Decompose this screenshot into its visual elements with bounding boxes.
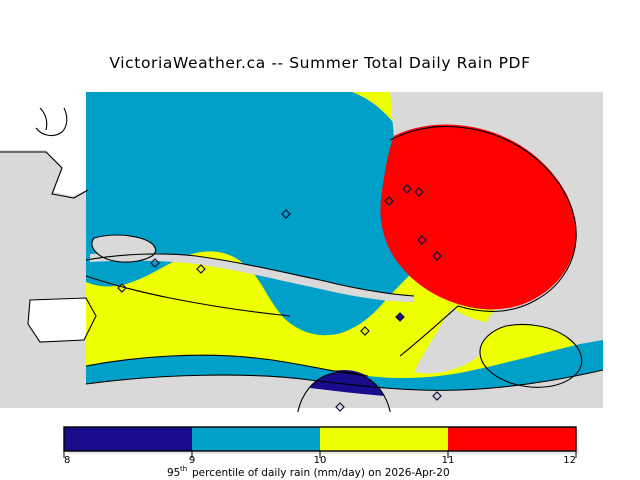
map-container[interactable] bbox=[0, 40, 640, 412]
colorbar-band-8-9[interactable] bbox=[64, 427, 192, 451]
colorbar-container: 8 9 10 11 12 95 th percentile of daily r… bbox=[0, 418, 640, 480]
weather-map-page: VictoriaWeather.ca -- Summer Total Daily… bbox=[0, 0, 640, 480]
colorbar-tick-label-10: 10 bbox=[314, 455, 327, 466]
page-title: VictoriaWeather.ca -- Summer Total Daily… bbox=[0, 54, 640, 72]
colorbar-caption-superscript: th bbox=[180, 465, 187, 473]
colorbar-tick-label-12: 12 bbox=[563, 455, 576, 466]
colorbar-band-9-10[interactable] bbox=[192, 427, 320, 451]
colorbar-caption-prefix: 95 bbox=[167, 467, 180, 479]
colorbar-caption-text: percentile of daily rain (mm/day) on 202… bbox=[192, 467, 450, 479]
colorbar-band-10-11[interactable] bbox=[320, 427, 448, 451]
colorbar-canvas: 8 9 10 11 12 95 th percentile of daily r… bbox=[0, 418, 640, 480]
map-canvas[interactable] bbox=[0, 40, 640, 412]
colorbar-tick-label-9: 9 bbox=[189, 455, 195, 466]
colorbar-band-11-12[interactable] bbox=[448, 427, 576, 451]
colorbar-tick-label-8: 8 bbox=[64, 455, 70, 466]
colorbar-tick-label-11: 11 bbox=[442, 455, 455, 466]
